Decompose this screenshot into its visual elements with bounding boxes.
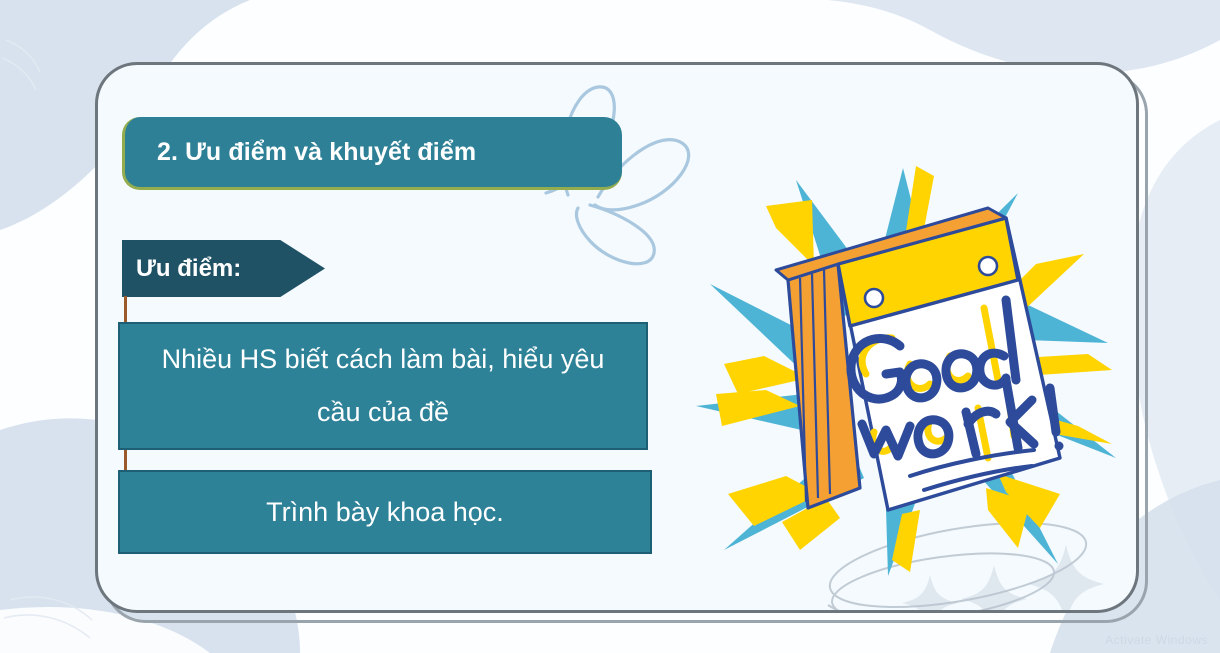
slide-canvas: 2. Ưu điểm và khuyết điểm Ưu điểm: Nhiều…: [0, 0, 1220, 653]
activate-windows-watermark: Activate Windows: [1105, 633, 1208, 647]
binder-hole-left: [865, 289, 883, 307]
good-work-svg: [688, 158, 1118, 578]
banner-label: Ưu điểm:: [136, 240, 241, 297]
content-box-2: Trình bày khoa học.: [118, 470, 652, 554]
page-title: 2. Ưu điểm và khuyết điểm: [157, 138, 476, 167]
binder-hole-right: [979, 257, 997, 275]
connector-line-top: [124, 296, 127, 324]
content-box-1: Nhiều HS biết cách làm bài, hiểu yêu cầu…: [118, 322, 648, 450]
section-title-pill: 2. Ưu điểm và khuyết điểm: [122, 117, 622, 190]
connector-line-bottom: [124, 448, 127, 472]
advantages-banner: Ưu điểm:: [122, 240, 325, 297]
good-work-notepad-illustration: [688, 158, 1118, 578]
